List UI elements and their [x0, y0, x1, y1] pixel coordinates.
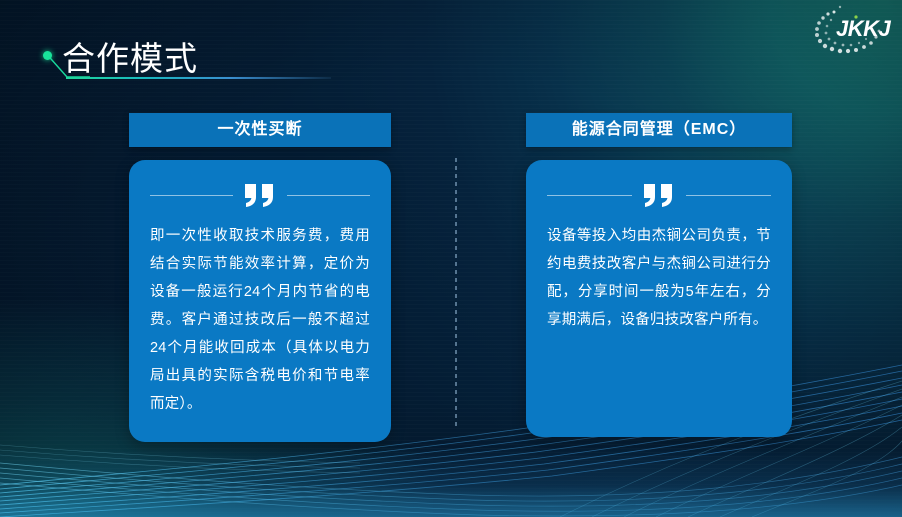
title-underline: [66, 77, 331, 79]
card-header-right: 能源合同管理（EMC）: [526, 113, 792, 147]
column-one-time-buyout: 一次性买断 即一次性收取技术服务费，费用结合实际节能效率计算，定价为设备一般运行…: [129, 113, 391, 442]
title-accent-dot-icon: [43, 51, 52, 60]
quote-divider-row-left: [150, 182, 370, 208]
column-emc: 能源合同管理（EMC） 设备等投入均由杰锏公司负责，节约电费技改客户与杰锏公司进…: [526, 113, 792, 437]
page-title: 合作模式: [62, 32, 198, 80]
card-text-right: 设备等投入均由杰锏公司负责，节约电费技改客户与杰锏公司进行分配，分享时间一般为5…: [547, 222, 771, 334]
slide-root: 合作模式: [0, 0, 902, 517]
close-quote-icon: [243, 182, 277, 208]
column-divider: [455, 158, 457, 430]
card-header-left: 一次性买断: [129, 113, 391, 147]
card-text-left: 即一次性收取技术服务费，费用结合实际节能效率计算，定价为设备一般运行24个月内节…: [150, 222, 370, 418]
quote-rule-left: [150, 195, 233, 196]
close-quote-icon: [642, 182, 676, 208]
quote-rule-right: [287, 195, 370, 196]
card-body-left: 即一次性收取技术服务费，费用结合实际节能效率计算，定价为设备一般运行24个月内节…: [129, 160, 391, 442]
brand-logo: JKKJ: [804, 4, 890, 60]
page-title-block: 合作模式: [40, 38, 460, 88]
quote-rule-left: [547, 195, 632, 196]
quote-divider-row-right: [547, 182, 771, 208]
logo-wordmark: JKKJ: [836, 16, 890, 42]
quote-rule-right: [686, 195, 771, 196]
card-body-right: 设备等投入均由杰锏公司负责，节约电费技改客户与杰锏公司进行分配，分享时间一般为5…: [526, 160, 792, 437]
